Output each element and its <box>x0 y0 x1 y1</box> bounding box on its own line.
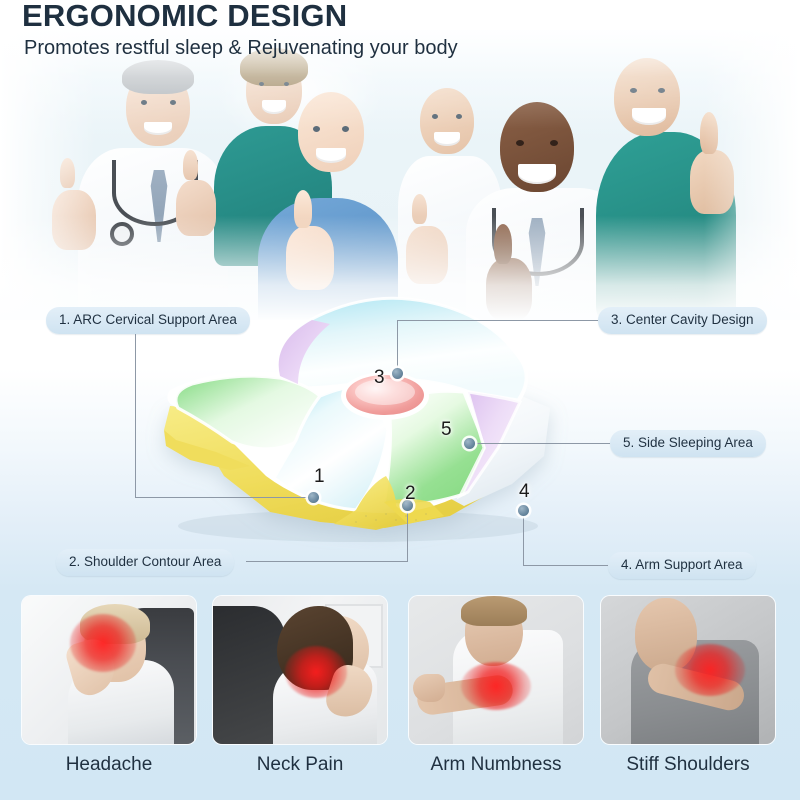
zone-number-5: 5 <box>441 419 452 441</box>
pain-highlight-icon <box>70 614 136 672</box>
leader-line-1-vertical <box>135 333 136 498</box>
leader-line-2-horizontal <box>246 561 408 562</box>
symptom-photo-headache <box>22 596 196 744</box>
symptom-card-headache[interactable]: Headache <box>22 596 196 776</box>
symptom-caption-stiff-shoulders: Stiff Shoulders <box>601 754 775 776</box>
callout-2-shoulder-contour-area[interactable]: 2. Shoulder Contour Area <box>56 549 234 576</box>
zone-number-2: 2 <box>405 483 416 505</box>
leader-line-4-vertical <box>523 510 524 566</box>
page-title: ERGONOMIC DESIGN <box>22 0 458 32</box>
symptom-card-arm-numbness[interactable]: Arm Numbness <box>409 596 583 776</box>
symptom-caption-headache: Headache <box>22 754 196 776</box>
symptom-photo-arm-numbness <box>409 596 583 744</box>
infographic-page: ERGONOMIC DESIGN Promotes restful sleep … <box>0 0 800 800</box>
zone-marker-4[interactable] <box>518 505 529 516</box>
header: ERGONOMIC DESIGN Promotes restful sleep … <box>22 0 458 60</box>
symptom-card-neck-pain[interactable]: Neck Pain <box>213 596 387 776</box>
callout-5-side-sleeping-area[interactable]: 5. Side Sleeping Area <box>610 430 766 457</box>
leader-line-2-vertical <box>407 505 408 562</box>
leader-line-5-horizontal <box>469 443 611 444</box>
zone-marker-1[interactable] <box>308 492 319 503</box>
leader-line-4-horizontal <box>523 565 609 566</box>
pain-highlight-icon <box>285 646 347 698</box>
hero-white-vignette <box>0 30 800 320</box>
page-subtitle: Promotes restful sleep & Rejuvenating yo… <box>24 36 458 60</box>
pain-highlight-icon <box>675 644 745 696</box>
pain-highlight-icon <box>461 662 531 710</box>
symptom-photo-neck-pain <box>213 596 387 744</box>
leader-line-3-vertical <box>397 320 398 374</box>
symptom-caption-neck-pain: Neck Pain <box>213 754 387 776</box>
callout-1-arc-cervical-support-area[interactable]: 1. ARC Cervical Support Area <box>46 307 250 334</box>
zone-number-1: 1 <box>314 466 325 488</box>
symptom-card-grid: Headache Neck Pain <box>0 596 800 800</box>
leader-line-3-horizontal <box>397 320 599 321</box>
callout-3-center-cavity-design[interactable]: 3. Center Cavity Design <box>598 307 767 334</box>
zone-number-3: 3 <box>374 367 385 389</box>
leader-line-1-horizontal <box>135 497 314 498</box>
hero-photo-medical-team <box>0 30 800 320</box>
callout-4-arm-support-area[interactable]: 4. Arm Support Area <box>608 552 756 579</box>
symptom-caption-arm-numbness: Arm Numbness <box>409 754 583 776</box>
zone-marker-3[interactable] <box>392 368 403 379</box>
zone-number-4: 4 <box>519 481 530 503</box>
symptom-card-stiff-shoulders[interactable]: Stiff Shoulders <box>601 596 775 776</box>
symptom-photo-stiff-shoulders <box>601 596 775 744</box>
zone-marker-5[interactable] <box>464 438 475 449</box>
